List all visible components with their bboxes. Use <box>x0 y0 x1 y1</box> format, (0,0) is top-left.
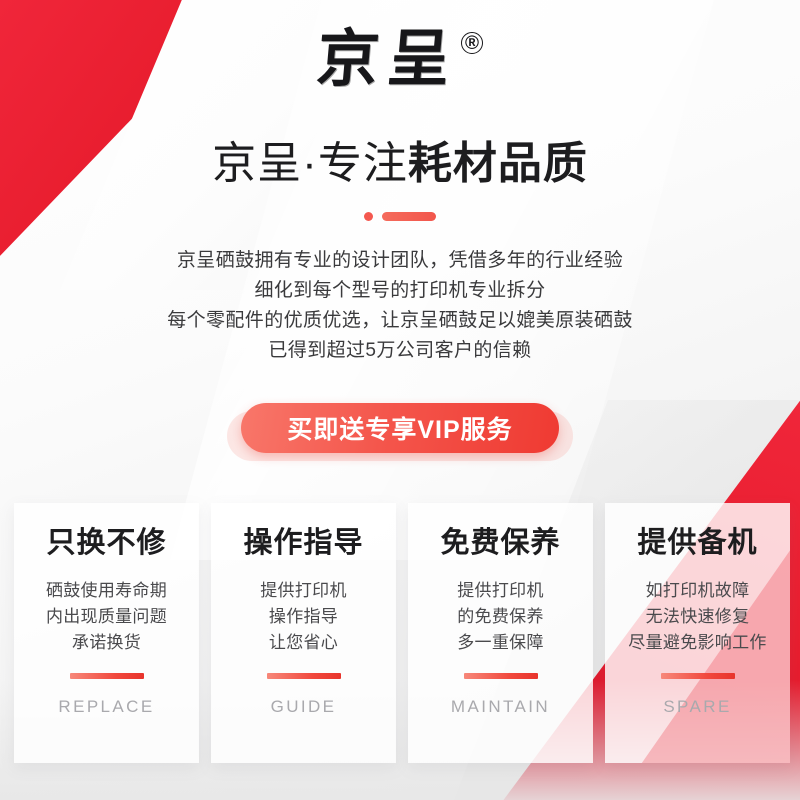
headline-divider <box>0 212 800 221</box>
intro-paragraph: 京呈硒鼓拥有专业的设计团队，凭借多年的行业经验 细化到每个型号的打印机专业拆分 … <box>0 246 800 366</box>
feature-card-rule <box>661 673 735 679</box>
feature-card-line: 多一重保障 <box>457 630 544 656</box>
feature-card-body: 提供打印机 的免费保养 多一重保障 <box>457 578 544 656</box>
intro-line: 每个零配件的优质优选，让京呈硒鼓足以媲美原装硒鼓 <box>0 306 800 336</box>
feature-card-title: 只换不修 <box>46 529 166 558</box>
feature-card-replace[interactable]: 只换不修 硒鼓使用寿命期 内出现质量问题 承诺换货 REPLACE <box>14 503 199 763</box>
vip-promo-area: 买即送专享VIP服务 <box>0 403 800 453</box>
promotional-banner: 京呈 ® 京呈·专注耗材品质 京呈硒鼓拥有专业的设计团队，凭借多年的行业经验 细… <box>0 0 800 800</box>
feature-card-line: 无法快速修复 <box>628 604 766 630</box>
feature-card-line: 承诺换货 <box>46 630 167 656</box>
feature-card-rule <box>464 673 538 679</box>
feature-card-spare[interactable]: 提供备机 如打印机故障 无法快速修复 尽量避免影响工作 SPARE <box>605 503 790 763</box>
feature-card-rule <box>267 673 341 679</box>
feature-card-line: 如打印机故障 <box>628 578 766 604</box>
divider-bar-icon <box>382 212 436 221</box>
feature-card-english-label: SPARE <box>663 697 731 717</box>
feature-card-english-label: REPLACE <box>58 697 154 717</box>
feature-card-title: 操作指导 <box>243 529 363 558</box>
feature-card-line: 硒鼓使用寿命期 <box>46 578 167 604</box>
feature-card-body: 提供打印机 操作指导 让您省心 <box>260 578 347 656</box>
feature-card-line: 提供打印机 <box>457 578 544 604</box>
divider-dot-icon <box>364 212 373 221</box>
feature-card-line: 尽量避免影响工作 <box>628 630 766 656</box>
feature-card-list: 只换不修 硒鼓使用寿命期 内出现质量问题 承诺换货 REPLACE 操作指导 提… <box>14 503 790 763</box>
feature-card-line: 提供打印机 <box>260 578 347 604</box>
feature-card-maintain[interactable]: 免费保养 提供打印机 的免费保养 多一重保障 MAINTAIN <box>408 503 593 763</box>
feature-card-line: 让您省心 <box>260 630 347 656</box>
vip-badge-shadow: 买即送专享VIP服务 <box>241 403 558 453</box>
intro-line: 已得到超过5万公司客户的信赖 <box>0 336 800 366</box>
intro-line: 细化到每个型号的打印机专业拆分 <box>0 276 800 306</box>
registered-trademark-icon: ® <box>461 32 483 54</box>
page-title: 京呈·专注耗材品质 <box>0 142 800 186</box>
feature-card-body: 硒鼓使用寿命期 内出现质量问题 承诺换货 <box>46 578 167 656</box>
intro-line: 京呈硒鼓拥有专业的设计团队，凭借多年的行业经验 <box>0 246 800 276</box>
brand-logo: 京呈 ® <box>0 26 800 91</box>
feature-card-body: 如打印机故障 无法快速修复 尽量避免影响工作 <box>628 578 766 656</box>
headline-light-part: 京呈·专注 <box>212 139 408 188</box>
vip-promo-badge[interactable]: 买即送专享VIP服务 <box>241 403 558 453</box>
feature-card-line: 内出现质量问题 <box>46 604 167 630</box>
feature-card-line: 的免费保养 <box>457 604 544 630</box>
feature-card-line: 操作指导 <box>260 604 347 630</box>
feature-card-rule <box>70 673 144 679</box>
feature-card-english-label: GUIDE <box>271 697 337 717</box>
feature-card-guide[interactable]: 操作指导 提供打印机 操作指导 让您省心 GUIDE <box>211 503 396 763</box>
feature-card-title: 提供备机 <box>637 529 757 558</box>
brand-logo-text: 京呈 <box>314 26 462 91</box>
feature-card-title: 免费保养 <box>440 529 560 558</box>
headline-bold-part: 耗材品质 <box>408 139 588 188</box>
feature-card-english-label: MAINTAIN <box>451 697 550 717</box>
